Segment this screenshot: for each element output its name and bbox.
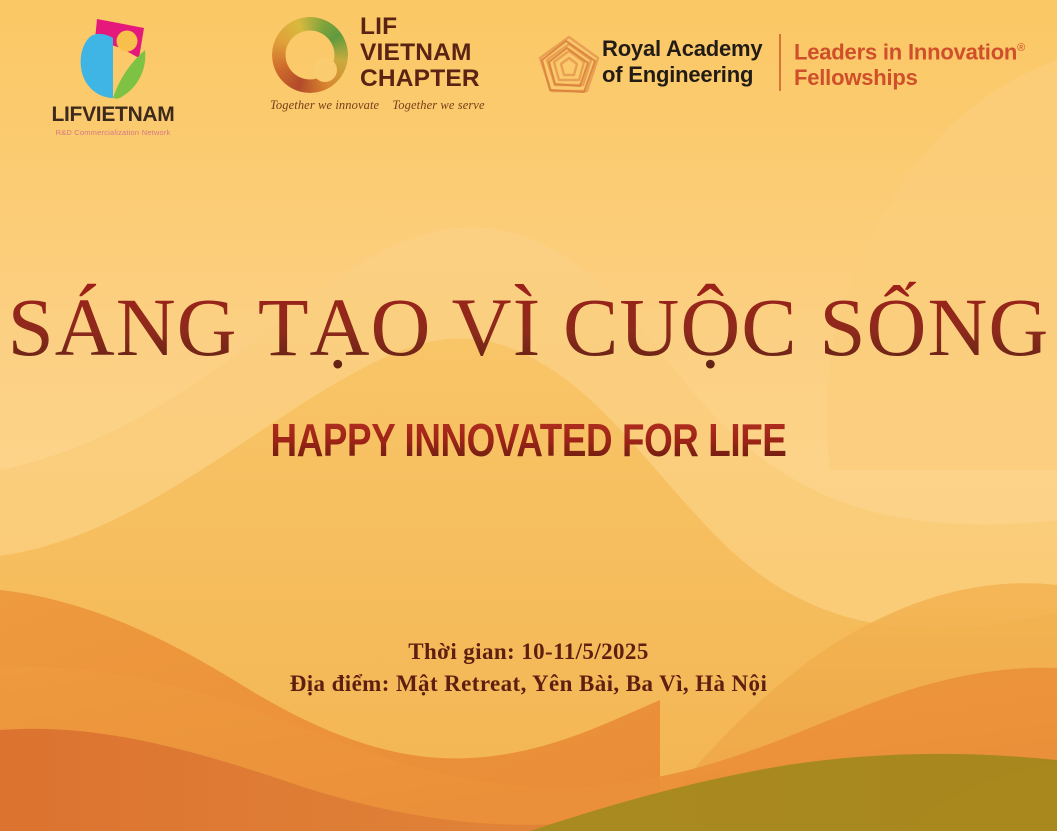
chapter-tagline-2: Together we serve bbox=[392, 98, 484, 112]
registered-mark-icon: ® bbox=[1017, 42, 1025, 54]
wave-olive bbox=[530, 754, 1057, 831]
poster-slide: LIFVIETNAM R&D Commercialization Network… bbox=[0, 0, 1057, 831]
logo-row: LIFVIETNAM R&D Commercialization Network… bbox=[0, 0, 1057, 135]
event-time: Thời gian: 10-11/5/2025 bbox=[0, 636, 1057, 668]
lif-line-1: Leaders in Innovation® bbox=[794, 36, 1025, 65]
chapter-line-3: CHAPTER bbox=[360, 66, 480, 92]
wave-olive-crest bbox=[900, 762, 1057, 831]
event-info: Thời gian: 10-11/5/2025 Địa điểm: Mật Re… bbox=[0, 636, 1057, 700]
lifvietnam-wordmark: LIFVIETNAM bbox=[38, 103, 188, 127]
chapter-wordmark: LIF VIETNAM CHAPTER bbox=[360, 14, 480, 92]
main-title-vietnamese: SÁNG TẠO VÌ CUỘC SỐNG bbox=[0, 281, 1057, 373]
chapter-line-1: LIF bbox=[360, 14, 480, 40]
subtitle-english: HAPPY INNOVATED FOR LIFE bbox=[106, 414, 952, 466]
chapter-line-2: VIETNAM bbox=[360, 40, 480, 66]
wave-orange-deep bbox=[0, 729, 560, 831]
ring-notch bbox=[313, 58, 337, 82]
logo-lif-vietnam-chapter: LIF VIETNAM CHAPTER Together we innovate… bbox=[268, 12, 498, 120]
lifvietnam-tagline: R&D Commercialization Network bbox=[38, 128, 188, 137]
event-place: Địa điểm: Mật Retreat, Yên Bài, Ba Vì, H… bbox=[0, 668, 1057, 700]
raeng-divider bbox=[779, 34, 781, 91]
lif-line-1-text: Leaders in Innovation bbox=[794, 39, 1017, 64]
raeng-line-1: Royal Academy bbox=[602, 36, 762, 62]
lifvietnam-tulip-icon bbox=[61, 14, 165, 102]
wave-right-lobe bbox=[640, 583, 1057, 831]
chapter-tagline-1: Together we innovate bbox=[270, 98, 379, 112]
logo-royal-academy: Royal Academy of Engineering Leaders in … bbox=[536, 28, 1046, 102]
pentagon-lines-icon bbox=[536, 34, 602, 94]
logo-lifvietnam: LIFVIETNAM R&D Commercialization Network bbox=[38, 14, 188, 137]
raeng-wordmark: Royal Academy of Engineering bbox=[602, 36, 762, 87]
gradient-ring-icon bbox=[272, 17, 348, 93]
lif-fellowship-wordmark: Leaders in Innovation® Fellowships bbox=[794, 36, 1025, 90]
raeng-line-2: of Engineering bbox=[602, 62, 762, 88]
wave-orange-left bbox=[0, 590, 660, 831]
wave-amber bbox=[0, 339, 1057, 831]
lif-line-2: Fellowships bbox=[794, 65, 1025, 91]
chapter-tagline: Together we innovate Together we serve bbox=[270, 98, 495, 113]
